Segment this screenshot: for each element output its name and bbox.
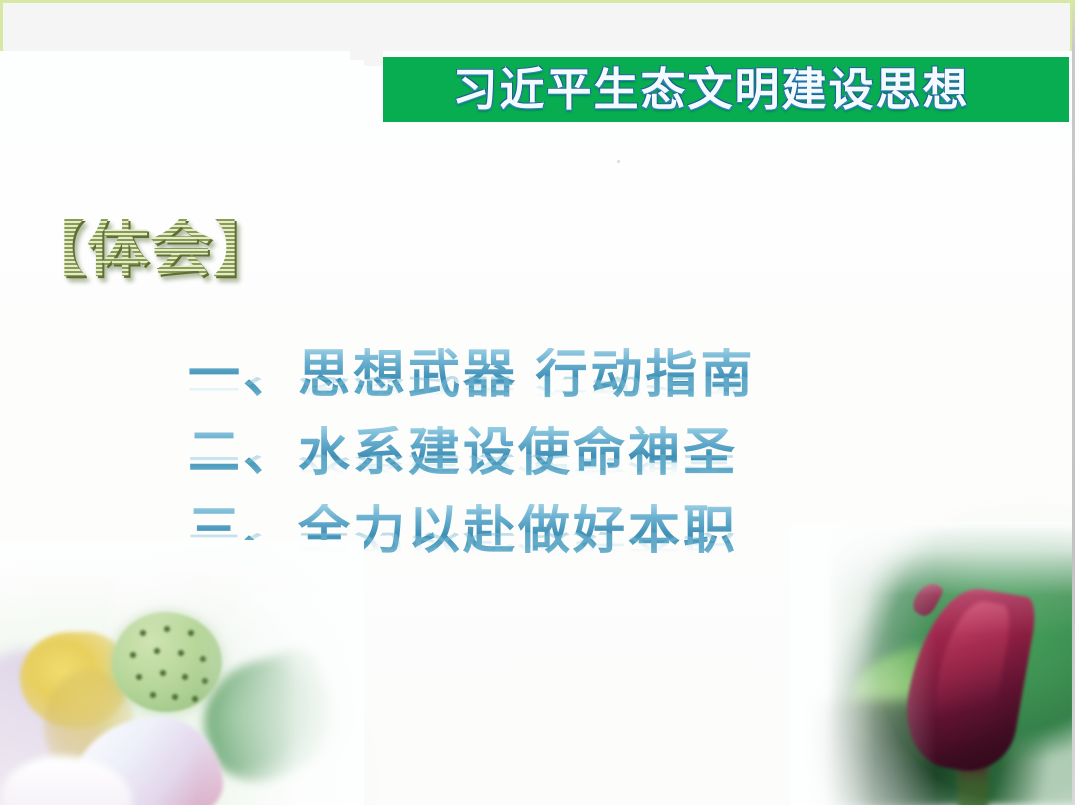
lotus-flower-image <box>0 540 364 805</box>
lotus-seed-pod <box>112 612 222 712</box>
background-speck <box>617 160 620 163</box>
presentation-slide: 习近平生态文明建设思想 【体会】 【体会】 一、思想武器 行动指南 一、思想武器… <box>0 0 1075 805</box>
top-band-step-2 <box>364 56 383 66</box>
lotus-bud-image <box>790 522 1072 805</box>
list-item: 二、水系建设使命神圣 二、水系建设使命神圣 <box>188 426 828 504</box>
section-heading: 【体会】 <box>24 219 276 281</box>
outline-item-2-label: 二、水系建设使命神圣 <box>188 426 738 481</box>
list-item: 一、思想武器 行动指南 一、思想武器 行动指南 <box>188 348 828 426</box>
outline-item-1-label: 一、思想武器 行动指南 <box>188 348 755 403</box>
title-banner: 习近平生态文明建设思想 <box>383 57 1069 122</box>
slide-title: 习近平生态文明建设思想 <box>452 67 999 112</box>
top-decorative-band <box>0 0 1072 51</box>
